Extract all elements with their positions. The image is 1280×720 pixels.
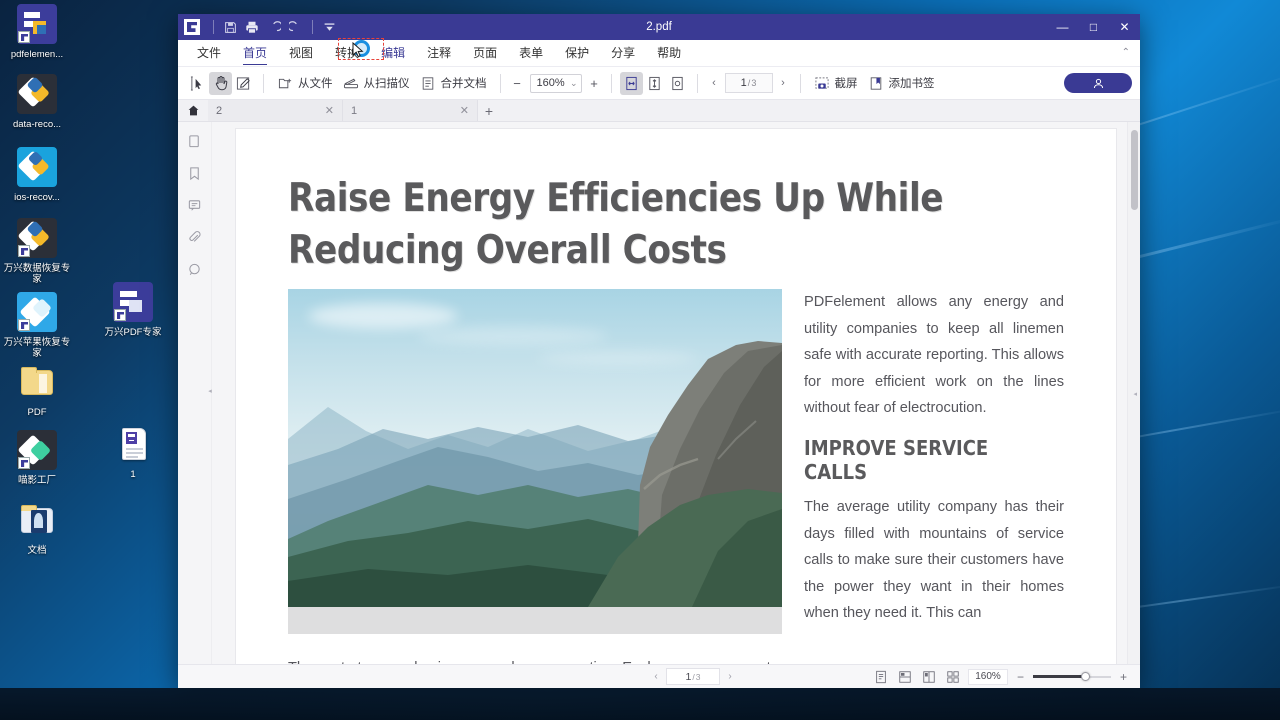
work-area: ◂ ▸ Raise Energy Efficiencies Up While R… — [178, 122, 1140, 664]
document-tab-1[interactable]: 1 ✕ — [343, 100, 478, 121]
right-column: PDFelement allows any energy and utility… — [804, 289, 1064, 664]
desktop-icon-label: 1 — [96, 469, 170, 480]
from-scanner-label: 从扫描仪 — [364, 75, 410, 91]
desktop-icon-label: 万兴数据恢复专家 — [0, 263, 74, 285]
user-icon — [1092, 77, 1105, 90]
status-page-input[interactable]: 1 / 3 — [666, 668, 720, 685]
status-total-pages: 3 — [696, 672, 701, 682]
previous-page-button[interactable]: ‹ — [706, 73, 723, 93]
print-icon[interactable] — [241, 17, 263, 37]
continuous-view-icon[interactable] — [896, 668, 914, 686]
desktop-icon-label: 万兴PDF专家 — [96, 327, 170, 338]
scrollbar-thumb[interactable] — [1131, 130, 1138, 210]
status-zoom-in-button[interactable]: + — [1117, 670, 1130, 684]
total-pages-value: 3 — [751, 78, 756, 88]
merge-documents-icon — [420, 75, 437, 92]
chevron-down-icon: ⌄ — [570, 78, 578, 89]
desktop-icon-label: ios-recov... — [0, 192, 74, 203]
documents-folder-icon — [17, 500, 57, 540]
zoom-level-value: 160% — [537, 77, 565, 89]
divider — [611, 74, 612, 93]
quick-access-more-icon[interactable] — [318, 17, 340, 37]
bookmark-icon — [868, 75, 885, 92]
document-title: Raise Energy Efficiencies Up While Reduc… — [288, 173, 971, 277]
attachment-icon[interactable] — [184, 226, 206, 248]
home-tab[interactable] — [178, 100, 208, 121]
current-page-value: 1 — [741, 77, 747, 89]
screenshot-button[interactable]: 截屏 — [809, 71, 863, 95]
ribbon-toolbar: 从文件 从扫描仪 合并文档 − 160% ⌄ + — [178, 67, 1140, 100]
document-tab-2[interactable]: 2 ✕ — [208, 100, 343, 121]
document-tab-strip: 2 ✕ 1 ✕ + — [178, 100, 1140, 122]
menu-item-file[interactable]: 文件 — [186, 40, 232, 66]
minimize-button[interactable]: — — [1047, 14, 1078, 40]
close-tab-icon[interactable]: ✕ — [325, 104, 334, 117]
zoom-slider[interactable] — [1033, 671, 1111, 683]
menu-item-home[interactable]: 首页 — [232, 40, 278, 66]
status-next-page-button[interactable]: › — [722, 668, 738, 686]
desktop-icon-label: data-reco... — [0, 119, 74, 130]
desktop-icon-pdf-folder[interactable]: PDF — [0, 362, 74, 418]
menu-item-protect[interactable]: 保护 — [554, 40, 600, 66]
divider — [213, 20, 214, 34]
desktop-icon-wondershare-pdf-expert[interactable]: 万兴PDF专家 — [96, 282, 170, 338]
pdfelement-icon — [17, 4, 57, 44]
pdfelement-window: 2.pdf — □ ✕ 文件 首页 视图 转换 编辑 注释 页面 表单 保护 分… — [178, 14, 1140, 688]
ios-recovery-icon — [17, 147, 57, 187]
add-bookmark-button[interactable]: 添加书签 — [863, 71, 940, 95]
from-scanner-button[interactable]: 从扫描仪 — [338, 71, 415, 95]
zoom-control-group: − 160% ⌄ + — [509, 74, 603, 93]
left-column-paragraph: The costs to run a business are always m… — [288, 655, 782, 664]
document-tab-label: 2 — [216, 105, 325, 117]
windows-taskbar[interactable] — [0, 688, 1280, 720]
bookmark-icon[interactable] — [184, 162, 206, 184]
status-page-separator: / — [692, 672, 694, 682]
right-column-paragraph-1: PDFelement allows any energy and utility… — [804, 289, 1064, 422]
pdf-page: Raise Energy Efficiencies Up While Reduc… — [236, 129, 1116, 664]
zoom-in-button[interactable]: + — [586, 74, 603, 93]
close-tab-icon[interactable]: ✕ — [460, 104, 469, 117]
screenshot-icon — [814, 75, 831, 92]
save-icon[interactable] — [219, 17, 241, 37]
slider-fill — [1033, 675, 1085, 678]
stamp-icon[interactable] — [184, 258, 206, 280]
status-zoom-value[interactable]: 160% — [968, 669, 1008, 685]
desktop-icon-wondershare-data-recovery[interactable]: 万兴数据恢复专家 — [0, 218, 74, 285]
menu-bar: 文件 首页 视图 转换 编辑 注释 页面 表单 保护 分享 帮助 ⌃ — [178, 40, 1140, 67]
wondershare-pdf-expert-icon — [113, 282, 153, 322]
page-number-input[interactable]: 1 / 3 — [725, 73, 773, 93]
scanner-icon — [343, 75, 360, 92]
status-page-navigation: ‹ 1 / 3 › — [648, 668, 738, 686]
next-page-button[interactable]: › — [775, 73, 792, 93]
fit-width-icon[interactable] — [620, 72, 643, 95]
menu-item-convert[interactable]: 转换 — [324, 40, 370, 66]
thumbnail-grid-view-icon[interactable] — [944, 668, 962, 686]
title-bar: 2.pdf — □ ✕ — [178, 14, 1140, 40]
status-previous-page-button[interactable]: ‹ — [648, 668, 664, 686]
left-column: The costs to run a business are always m… — [288, 289, 782, 664]
close-button[interactable]: ✕ — [1109, 14, 1140, 40]
document-tab-label: 1 — [351, 105, 460, 117]
desktop-icon-pdfelement[interactable]: pdfelemen... — [0, 4, 74, 60]
divider — [263, 74, 264, 93]
from-file-label: 从文件 — [298, 75, 333, 91]
comment-icon[interactable] — [184, 194, 206, 216]
zoom-level-select[interactable]: 160% ⌄ — [530, 74, 582, 93]
divider — [697, 74, 698, 93]
desktop-icon-data-recovery[interactable]: data-reco... — [0, 74, 74, 130]
merge-documents-button[interactable]: 合并文档 — [415, 71, 492, 95]
fit-page-icon[interactable] — [643, 72, 666, 95]
right-panel-expand-handle[interactable]: ◂ — [1133, 390, 1137, 398]
merge-documents-label: 合并文档 — [441, 75, 487, 91]
menu-item-comment[interactable]: 注释 — [416, 40, 462, 66]
redo-icon[interactable] — [285, 17, 307, 37]
menu-item-form[interactable]: 表单 — [508, 40, 554, 66]
add-bookmark-label: 添加书签 — [889, 75, 935, 91]
desktop-icon-file-1[interactable]: 1 — [96, 424, 170, 480]
desktop-icon-wondershare-apple-recovery[interactable]: 万兴苹果恢复专家 — [0, 292, 74, 359]
slider-knob[interactable] — [1081, 672, 1090, 681]
divider — [312, 20, 313, 34]
right-column-paragraph-2: The average utility company has their da… — [804, 494, 1064, 627]
thumbnails-icon[interactable] — [184, 130, 206, 152]
status-current-page: 1 — [686, 671, 692, 683]
desktop-icon-documents-folder[interactable]: 文档 — [0, 500, 74, 556]
folder-plus-icon — [277, 75, 294, 92]
new-tab-button[interactable]: + — [478, 100, 500, 121]
ribbon-page-navigation: ‹ 1 / 3 › — [706, 73, 792, 93]
account-button[interactable] — [1064, 73, 1132, 93]
actual-size-icon[interactable] — [666, 72, 689, 95]
desktop-icon-label: pdfelemen... — [0, 49, 74, 60]
menu-item-view[interactable]: 视图 — [278, 40, 324, 66]
desktop-icon-label: PDF — [0, 407, 74, 418]
ribbon-collapse-icon[interactable]: ⌃ — [1122, 40, 1140, 66]
folder-icon — [17, 362, 57, 402]
divider — [500, 74, 501, 93]
mountain-landscape-photo — [288, 289, 782, 607]
hand-tool-icon[interactable] — [209, 72, 232, 95]
desktop-icon-label: 文档 — [0, 545, 74, 556]
desktop-icon-ios-recovery[interactable]: ios-recov... — [0, 147, 74, 203]
right-column-heading: IMPROVE SERVICE CALLS — [804, 436, 1038, 484]
maximize-button[interactable]: □ — [1078, 14, 1109, 40]
status-zoom-out-button[interactable]: − — [1014, 670, 1027, 684]
app-logo-icon — [184, 19, 200, 35]
page-separator: / — [748, 78, 751, 88]
status-bar: ‹ 1 / 3 › 160% − — [178, 664, 1140, 688]
data-recovery-icon — [17, 74, 57, 114]
document-viewport[interactable]: Raise Energy Efficiencies Up While Reduc… — [212, 122, 1140, 664]
desktop-icon-video-factory[interactable]: 喵影工厂 — [0, 430, 74, 486]
from-file-button[interactable]: 从文件 — [272, 71, 338, 95]
single-page-view-icon[interactable] — [872, 668, 890, 686]
menu-item-help[interactable]: 帮助 — [646, 40, 692, 66]
status-right-group: 160% − + — [872, 668, 1130, 686]
facing-view-icon[interactable] — [920, 668, 938, 686]
image-caption-bar — [288, 607, 782, 634]
menu-item-edit[interactable]: 编辑 — [370, 40, 416, 66]
divider — [800, 74, 801, 93]
home-icon — [187, 104, 200, 117]
desktop-icon-label: 万兴苹果恢复专家 — [0, 337, 74, 359]
wondershare-apple-recovery-icon — [17, 292, 57, 332]
pdf-file-icon — [113, 424, 153, 464]
screenshot-label: 截屏 — [835, 75, 858, 91]
video-factory-icon — [17, 430, 57, 470]
desktop-icon-label: 喵影工厂 — [0, 475, 74, 486]
edit-tool-icon[interactable] — [232, 72, 255, 95]
menu-item-share[interactable]: 分享 — [600, 40, 646, 66]
wondershare-data-recovery-icon — [17, 218, 57, 258]
menu-item-page[interactable]: 页面 — [462, 40, 508, 66]
text-select-tool-icon[interactable] — [186, 72, 209, 95]
undo-icon[interactable] — [263, 17, 285, 37]
zoom-out-button[interactable]: − — [509, 74, 526, 93]
